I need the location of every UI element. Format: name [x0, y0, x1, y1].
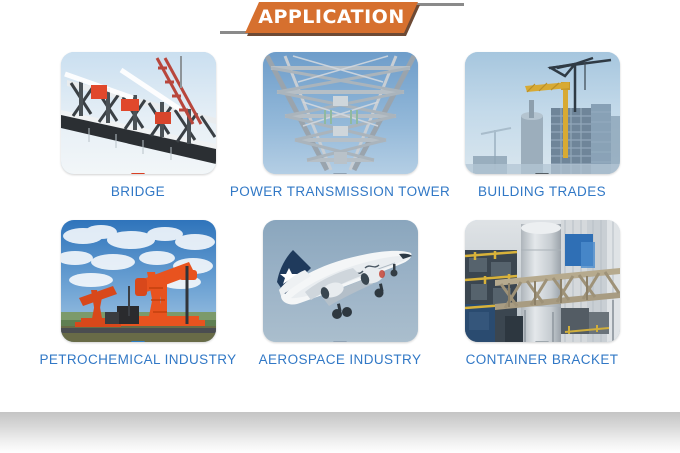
- thumbnail-tail: [131, 341, 145, 342]
- thumbnail-tail: [131, 173, 145, 174]
- application-banner: APPLICATION: [245, 2, 420, 36]
- thumbnail-tail: [333, 341, 347, 342]
- application-row-2: PETROCHEMICAL INDUSTRY: [0, 220, 680, 382]
- thumbnail-container-bracket[interactable]: [465, 220, 620, 342]
- page-title: APPLICATION: [245, 2, 418, 33]
- application-card-building-trades[interactable]: BUILDING TRADES: [441, 52, 643, 214]
- thumbnail-aerospace-industry[interactable]: [263, 220, 418, 342]
- thumbnail-building-trades[interactable]: [465, 52, 620, 174]
- application-card-power-transmission-tower[interactable]: POWER TRANSMISSION TOWER: [239, 52, 441, 214]
- page-header: APPLICATION: [0, 0, 680, 44]
- pumpjack-illustration: [61, 220, 216, 342]
- application-row-1: BRIDGE: [0, 52, 680, 214]
- card-label-building-trades: BUILDING TRADES: [478, 184, 606, 199]
- thumbnail-tail: [333, 173, 347, 174]
- construction-site-illustration: [465, 52, 620, 174]
- thumbnail-tail: [535, 341, 549, 342]
- application-card-container-bracket[interactable]: CONTAINER BRACKET: [441, 220, 643, 382]
- thumbnail-petrochemical-industry[interactable]: [61, 220, 216, 342]
- card-label-aerospace-industry: AEROSPACE INDUSTRY: [259, 352, 422, 367]
- application-grid: BRIDGE: [0, 52, 680, 382]
- application-card-petrochemical-industry[interactable]: PETROCHEMICAL INDUSTRY: [37, 220, 239, 382]
- card-label-power-transmission-tower: POWER TRANSMISSION TOWER: [230, 184, 450, 199]
- bridge-illustration: [61, 52, 216, 174]
- transmission-tower-illustration: [263, 52, 418, 174]
- industrial-plant-illustration: [465, 220, 620, 342]
- airplane-illustration: [263, 220, 418, 342]
- application-card-bridge[interactable]: BRIDGE: [37, 52, 239, 214]
- card-label-petrochemical-industry: PETROCHEMICAL INDUSTRY: [39, 352, 236, 367]
- thumbnail-power-transmission-tower[interactable]: [263, 52, 418, 174]
- card-label-container-bracket: CONTAINER BRACKET: [466, 352, 619, 367]
- footer-shadow-band: [0, 412, 680, 453]
- thumbnail-bridge[interactable]: [61, 52, 216, 174]
- header-rule-right: [416, 3, 464, 6]
- thumbnail-tail: [535, 173, 549, 174]
- card-label-bridge: BRIDGE: [111, 184, 165, 199]
- application-card-aerospace-industry[interactable]: AEROSPACE INDUSTRY: [239, 220, 441, 382]
